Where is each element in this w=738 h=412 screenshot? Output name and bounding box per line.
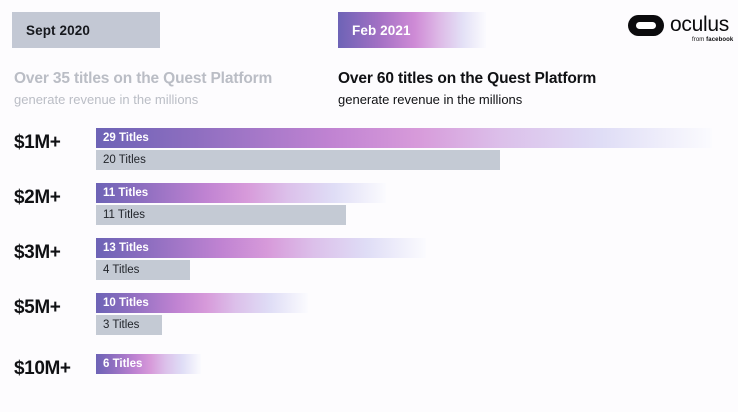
row-tier-label: $5M+ bbox=[14, 297, 92, 319]
oculus-logo: oculus from facebook bbox=[628, 12, 728, 46]
header: Sept 2020 Feb 2021 Over 35 titles on the… bbox=[0, 0, 738, 118]
row-tier-label: $1M+ bbox=[14, 132, 92, 154]
bar-previous-period: 11 Titles bbox=[96, 205, 346, 225]
facebook-text: facebook bbox=[706, 37, 733, 43]
row-tier-label: $2M+ bbox=[14, 187, 92, 209]
bar-current-period: 6 Titles bbox=[96, 354, 201, 374]
bar-current-period: 13 Titles bbox=[96, 238, 426, 258]
titles-revenue-bar-chart: $1M+29 Titles20 Titles$2M+11 Titles11 Ti… bbox=[0, 124, 738, 412]
row-tier-label: $10M+ bbox=[14, 358, 92, 380]
bar-current-period: 11 Titles bbox=[96, 183, 386, 203]
chart-row: $1M+29 Titles20 Titles bbox=[0, 124, 738, 168]
chart-row: $10M+6 Titles bbox=[0, 350, 738, 394]
from-facebook-label: from facebook bbox=[692, 37, 733, 43]
chart-row: $5M+10 Titles3 Titles bbox=[0, 289, 738, 333]
period-chip-previous: Sept 2020 bbox=[12, 12, 160, 48]
bar-current-period: 10 Titles bbox=[96, 293, 308, 313]
subline-previous: generate revenue in the millions bbox=[14, 92, 272, 107]
chart-row: $3M+13 Titles4 Titles bbox=[0, 234, 738, 278]
bar-previous-period: 3 Titles bbox=[96, 315, 162, 335]
bar-previous-period: 20 Titles bbox=[96, 150, 500, 170]
chart-row: $2M+11 Titles11 Titles bbox=[0, 179, 738, 223]
oculus-wordmark: oculus bbox=[670, 12, 729, 38]
headline-current: Over 60 titles on the Quest Platform bbox=[338, 70, 596, 88]
oculus-headset-icon bbox=[628, 15, 664, 36]
subline-current: generate revenue in the millions bbox=[338, 92, 596, 107]
headline-previous: Over 35 titles on the Quest Platform bbox=[14, 70, 272, 88]
bar-current-period: 29 Titles bbox=[96, 128, 712, 148]
row-tier-label: $3M+ bbox=[14, 242, 92, 264]
period-chip-current: Feb 2021 bbox=[338, 12, 486, 48]
from-text: from bbox=[692, 37, 706, 43]
headline-block-previous: Over 35 titles on the Quest Platform gen… bbox=[14, 70, 272, 107]
bar-previous-period: 4 Titles bbox=[96, 260, 190, 280]
headline-block-current: Over 60 titles on the Quest Platform gen… bbox=[338, 70, 596, 107]
